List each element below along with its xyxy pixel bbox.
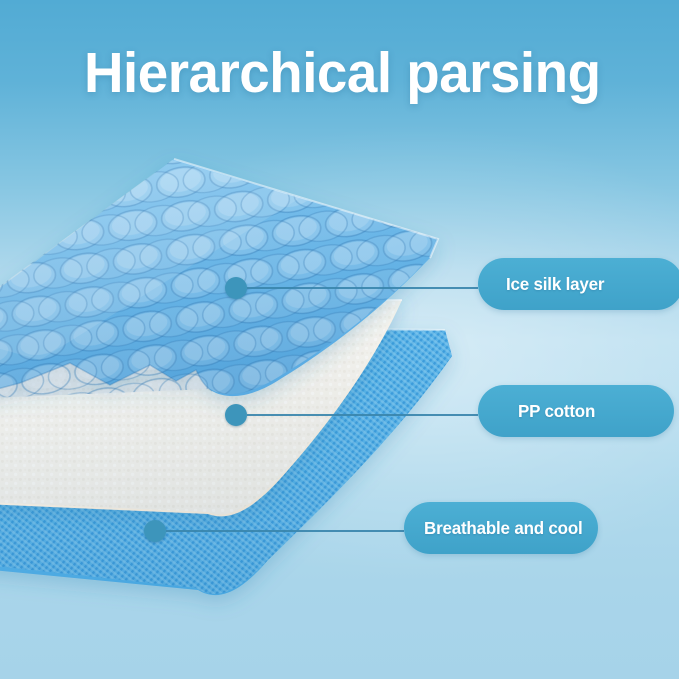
callout-dot-pp-cotton [225, 404, 247, 426]
callout-line-pp-cotton [247, 414, 478, 416]
callout-dot-ice-silk [225, 277, 247, 299]
callout-label-pp-cotton[interactable]: PP cotton [478, 385, 674, 437]
callout-line-ice-silk [247, 287, 478, 289]
callout-dot-breathable-mesh [144, 520, 166, 542]
callout-label-ice-silk-text: Ice silk layer [506, 274, 604, 295]
layer-breathable-mesh [0, 300, 540, 630]
callout-label-breathable-mesh-text: Breathable and cool [424, 518, 583, 539]
product-infographic: Hierarchical parsing [0, 0, 679, 679]
callout-label-ice-silk[interactable]: Ice silk layer [478, 258, 679, 310]
callout-label-pp-cotton-text: PP cotton [518, 401, 595, 422]
callout-label-breathable-mesh[interactable]: Breathable and cool [404, 502, 598, 554]
callout-line-breathable-mesh [166, 530, 404, 532]
page-title: Hierarchical parsing [84, 40, 601, 106]
